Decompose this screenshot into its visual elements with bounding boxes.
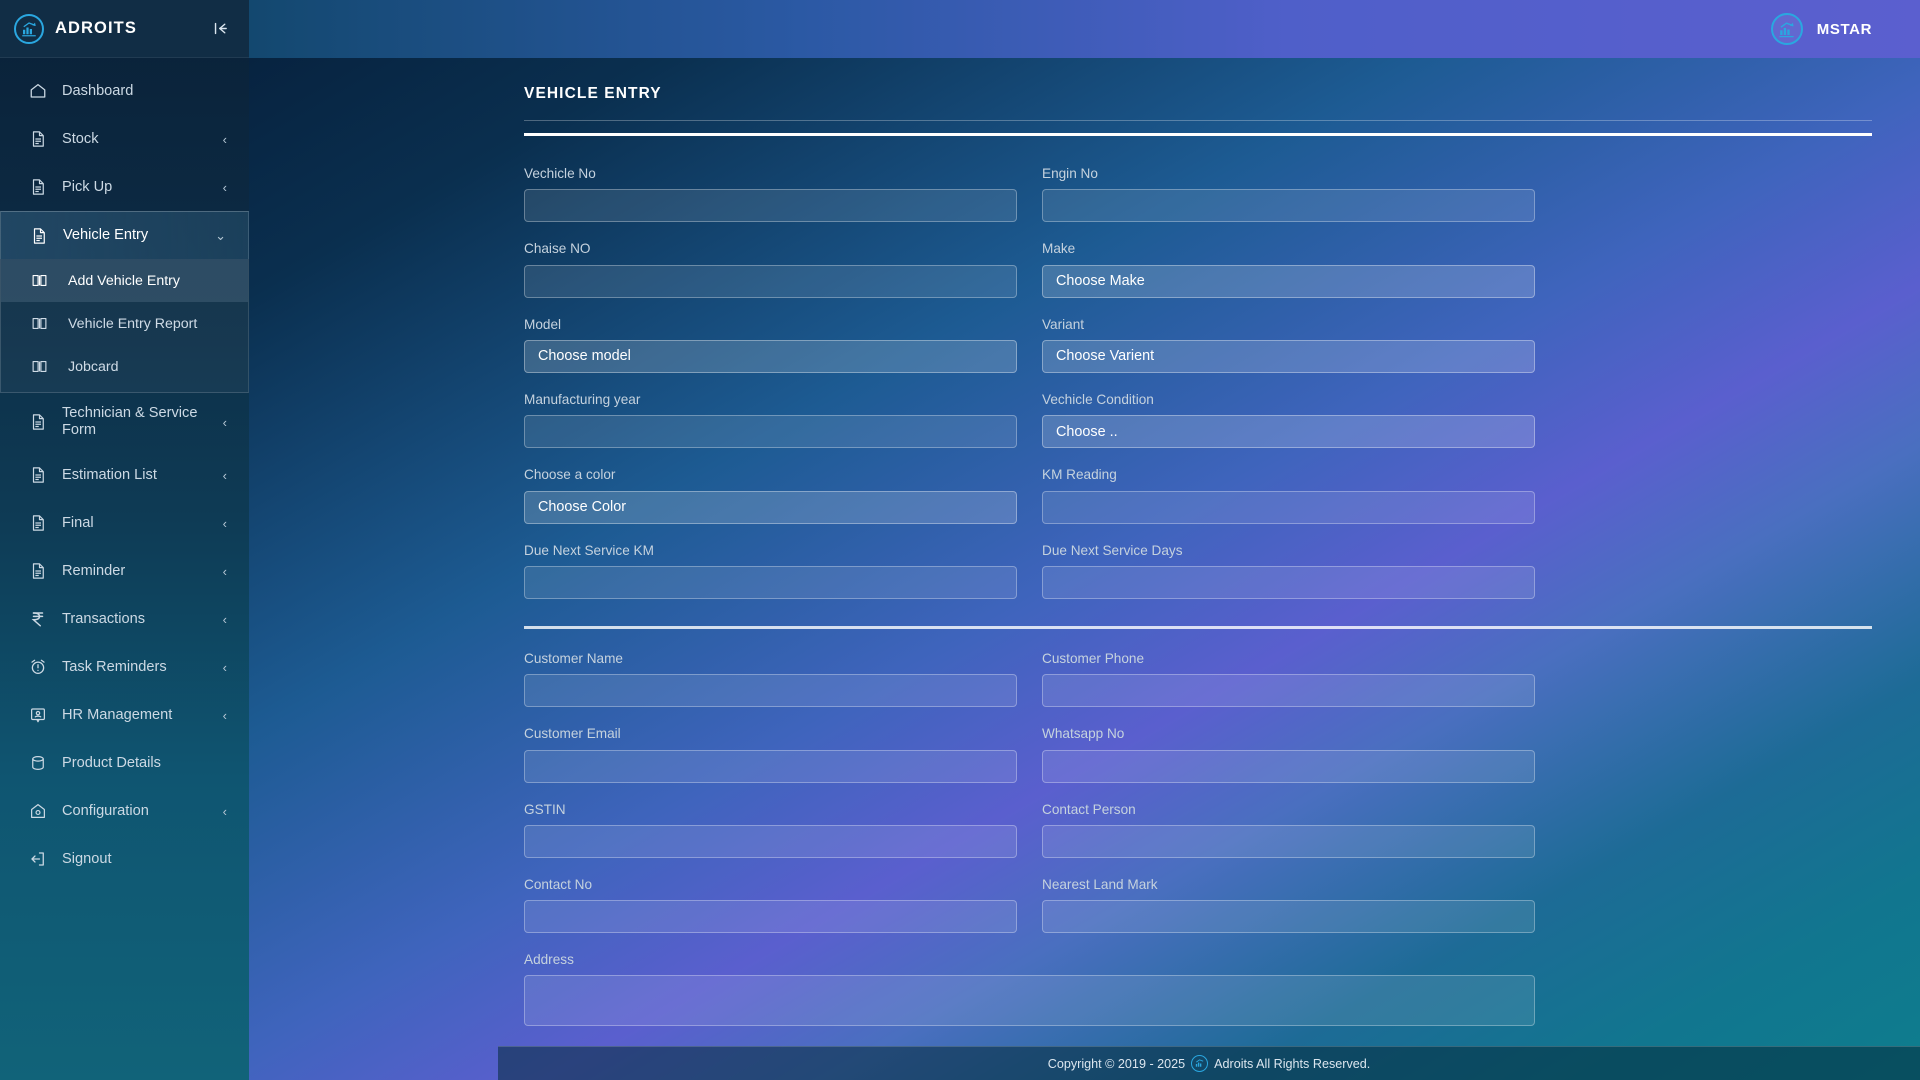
sidebar-item-jobcard[interactable]: Jobcard [1,345,248,388]
sidebar-item-add-vehicle-entry[interactable]: Add Vehicle Entry [1,259,248,302]
sidebar-item-label: Stock [62,131,223,148]
sidebar-item-label: Configuration [62,803,223,820]
chevron-left-icon: ‹ [223,415,227,430]
vehicle-fields-grid: Vechicle No Engin No Chaise NO Make Choo… [524,166,1872,618]
sidebar-item-label: Vehicle Entry [63,227,215,244]
sidebar-item-dashboard[interactable]: Dashboard [0,67,249,115]
sidebar-item-vehicle-entry-report[interactable]: Vehicle Entry Report [1,302,248,345]
nearest-land-mark-input[interactable] [1042,900,1535,933]
due-next-service-km-input[interactable] [524,566,1017,599]
field-label: Make [1042,241,1535,257]
chevron-left-icon: ‹ [223,468,227,483]
sidebar-item-product-details[interactable]: Product Details [0,739,249,787]
field-manufacturing-year: Manufacturing year [524,392,1017,448]
chevron-left-icon: ‹ [223,708,227,723]
sidebar-item-estimation-list[interactable]: Estimation List ‹ [0,451,249,499]
field-label: Due Next Service KM [524,543,1017,559]
chart-arrow-logo-icon [14,14,44,44]
vechicle-condition-select[interactable]: Choose .. [1042,415,1535,448]
document-icon [27,178,49,196]
sidebar-item-technician-service-form[interactable]: Technician & Service Form ‹ [0,393,249,451]
sidebar-item-label: Pick Up [62,179,223,196]
field-label: Manufacturing year [524,392,1017,408]
sidebar-item-signout[interactable]: Signout [0,835,249,883]
vehicle-entry-form-card: Vechicle No Engin No Chaise NO Make Choo… [524,133,1872,1080]
sidebar-item-label: Final [62,515,223,532]
document-icon [28,227,50,245]
sidebar-item-label: Dashboard [62,83,227,100]
sidebar-nav: Dashboard Stock ‹ [0,58,249,1080]
chevron-left-icon: ‹ [223,516,227,531]
book-icon [28,315,50,332]
sidebar-item-vehicle-entry[interactable]: Vehicle Entry ⌄ [0,211,249,259]
sidebar-item-stock[interactable]: Stock ‹ [0,115,249,163]
sidebar-item-configuration[interactable]: Configuration ‹ [0,787,249,835]
field-label: Choose a color [524,467,1017,483]
field-vechicle-condition: Vechicle Condition Choose .. [1042,392,1535,448]
chevron-left-icon: ‹ [223,132,227,147]
field-label: Model [524,317,1017,333]
chevron-left-icon: ‹ [223,612,227,627]
document-icon [27,130,49,148]
sidebar-subitem-label: Jobcard [68,359,118,375]
main-area: MSTAR VEHICLE ENTRY Vechicle No Engin No [249,0,1920,1080]
field-model: Model Choose model [524,317,1017,373]
document-icon [27,514,49,532]
km-reading-input[interactable] [1042,491,1535,524]
book-icon [28,272,50,289]
sidebar-item-pick-up[interactable]: Pick Up ‹ [0,163,249,211]
field-label: GSTIN [524,802,1017,818]
logout-icon [27,850,49,868]
title-divider [524,120,1872,121]
sidebar-item-label: Technician & Service Form [62,405,223,439]
database-icon [27,754,49,772]
document-icon [27,466,49,484]
variant-select[interactable]: Choose Varient [1042,340,1535,373]
contact-person-input[interactable] [1042,825,1535,858]
address-textarea[interactable] [524,975,1535,1026]
contact-no-input[interactable] [524,900,1017,933]
field-due-next-service-days: Due Next Service Days [1042,543,1535,599]
field-label: Vechicle Condition [1042,392,1535,408]
field-gstin: GSTIN [524,802,1017,858]
sidebar-subitem-label: Add Vehicle Entry [68,273,180,289]
sidebar-subitem-label: Vehicle Entry Report [68,316,197,332]
field-customer-name: Customer Name [524,651,1017,707]
field-contact-person: Contact Person [1042,802,1535,858]
document-icon [27,562,49,580]
customer-email-input[interactable] [524,750,1017,783]
field-label: Variant [1042,317,1535,333]
book-icon [28,358,50,375]
field-label: Vechicle No [524,166,1017,182]
field-vechicle-no: Vechicle No [524,166,1017,222]
home-icon [27,82,49,100]
collapse-sidebar-icon[interactable] [208,17,233,40]
chevron-left-icon: ‹ [223,804,227,819]
document-icon [27,413,49,431]
chart-arrow-logo-icon [1191,1055,1208,1072]
chart-arrow-logo-icon [1771,13,1803,45]
sidebar-item-label: Task Reminders [62,659,223,676]
field-label: Contact Person [1042,802,1535,818]
make-select[interactable]: Choose Make [1042,265,1535,298]
app-root: ADROITS Dashboard [0,0,1920,1080]
page-title: VEHICLE ENTRY [249,58,1920,103]
field-customer-email: Customer Email [524,726,1017,782]
gstin-input[interactable] [524,825,1017,858]
field-customer-phone: Customer Phone [1042,651,1535,707]
field-label: Customer Email [524,726,1017,742]
field-choose-a-color: Choose a color Choose Color [524,467,1017,523]
field-nearest-land-mark: Nearest Land Mark [1042,877,1535,933]
alarm-clock-icon [27,658,49,676]
customer-fields-grid: Customer Name Customer Phone Customer Em… [524,651,1872,1046]
field-contact-no: Contact No [524,877,1017,933]
vechicle-no-input[interactable] [524,189,1017,222]
field-due-next-service-km: Due Next Service KM [524,543,1017,599]
sidebar: ADROITS Dashboard [0,0,249,1080]
chevron-down-icon: ⌄ [215,228,226,244]
sidebar-header: ADROITS [0,0,249,58]
topbar: MSTAR [249,0,1920,58]
field-chaise-no: Chaise NO [524,241,1017,297]
due-next-service-days-input[interactable] [1042,566,1535,599]
model-select[interactable]: Choose model [524,340,1017,373]
house-gear-icon [27,802,49,820]
field-label: Contact No [524,877,1017,893]
engin-no-input[interactable] [1042,189,1535,222]
sidebar-item-hr-management[interactable]: HR Management ‹ [0,691,249,739]
user-name: MSTAR [1817,21,1872,38]
sidebar-submenu-vehicle-entry: Add Vehicle Entry Vehicle Entry Report [0,259,249,393]
section-divider [524,626,1872,629]
sidebar-item-label: HR Management [62,707,223,724]
field-whatsapp-no: Whatsapp No [1042,726,1535,782]
field-engin-no: Engin No [1042,166,1535,222]
chevron-left-icon: ‹ [223,564,227,579]
sidebar-item-label: Signout [62,851,227,868]
sidebar-item-transactions[interactable]: Transactions ‹ [0,595,249,643]
footer-copyright-after: Adroits All Rights Reserved. [1214,1057,1370,1071]
field-label: Address [524,952,1535,968]
footer: Copyright © 2019 - 2025 Adroits All Righ… [498,1046,1920,1080]
field-label: Engin No [1042,166,1535,182]
sidebar-item-reminder[interactable]: Reminder ‹ [0,547,249,595]
field-label: Whatsapp No [1042,726,1535,742]
user-menu[interactable]: MSTAR [1771,13,1872,45]
customer-phone-input[interactable] [1042,674,1535,707]
footer-copyright-before: Copyright © 2019 - 2025 [1048,1057,1185,1071]
sidebar-item-final[interactable]: Final ‹ [0,499,249,547]
content-scroll-area: VEHICLE ENTRY Vechicle No Engin No Chais… [249,58,1920,1080]
field-label: Customer Name [524,651,1017,667]
color-select[interactable]: Choose Color [524,491,1017,524]
field-label: Nearest Land Mark [1042,877,1535,893]
field-address: Address [524,952,1535,1026]
chevron-left-icon: ‹ [223,180,227,195]
field-variant: Variant Choose Varient [1042,317,1535,373]
whatsapp-no-input[interactable] [1042,750,1535,783]
field-label: KM Reading [1042,467,1535,483]
rupee-icon [27,610,49,628]
field-km-reading: KM Reading [1042,467,1535,523]
sidebar-item-label: Reminder [62,563,223,580]
brand-name: ADROITS [55,19,208,38]
field-label: Chaise NO [524,241,1017,257]
user-card-icon [27,706,49,724]
sidebar-item-label: Product Details [62,755,227,772]
field-label: Due Next Service Days [1042,543,1535,559]
sidebar-item-task-reminders[interactable]: Task Reminders ‹ [0,643,249,691]
chaise-no-input[interactable] [524,265,1017,298]
field-label: Customer Phone [1042,651,1535,667]
field-make: Make Choose Make [1042,241,1535,297]
manufacturing-year-input[interactable] [524,415,1017,448]
sidebar-item-label: Estimation List [62,467,223,484]
chevron-left-icon: ‹ [223,660,227,675]
customer-name-input[interactable] [524,674,1017,707]
sidebar-item-label: Transactions [62,611,223,628]
